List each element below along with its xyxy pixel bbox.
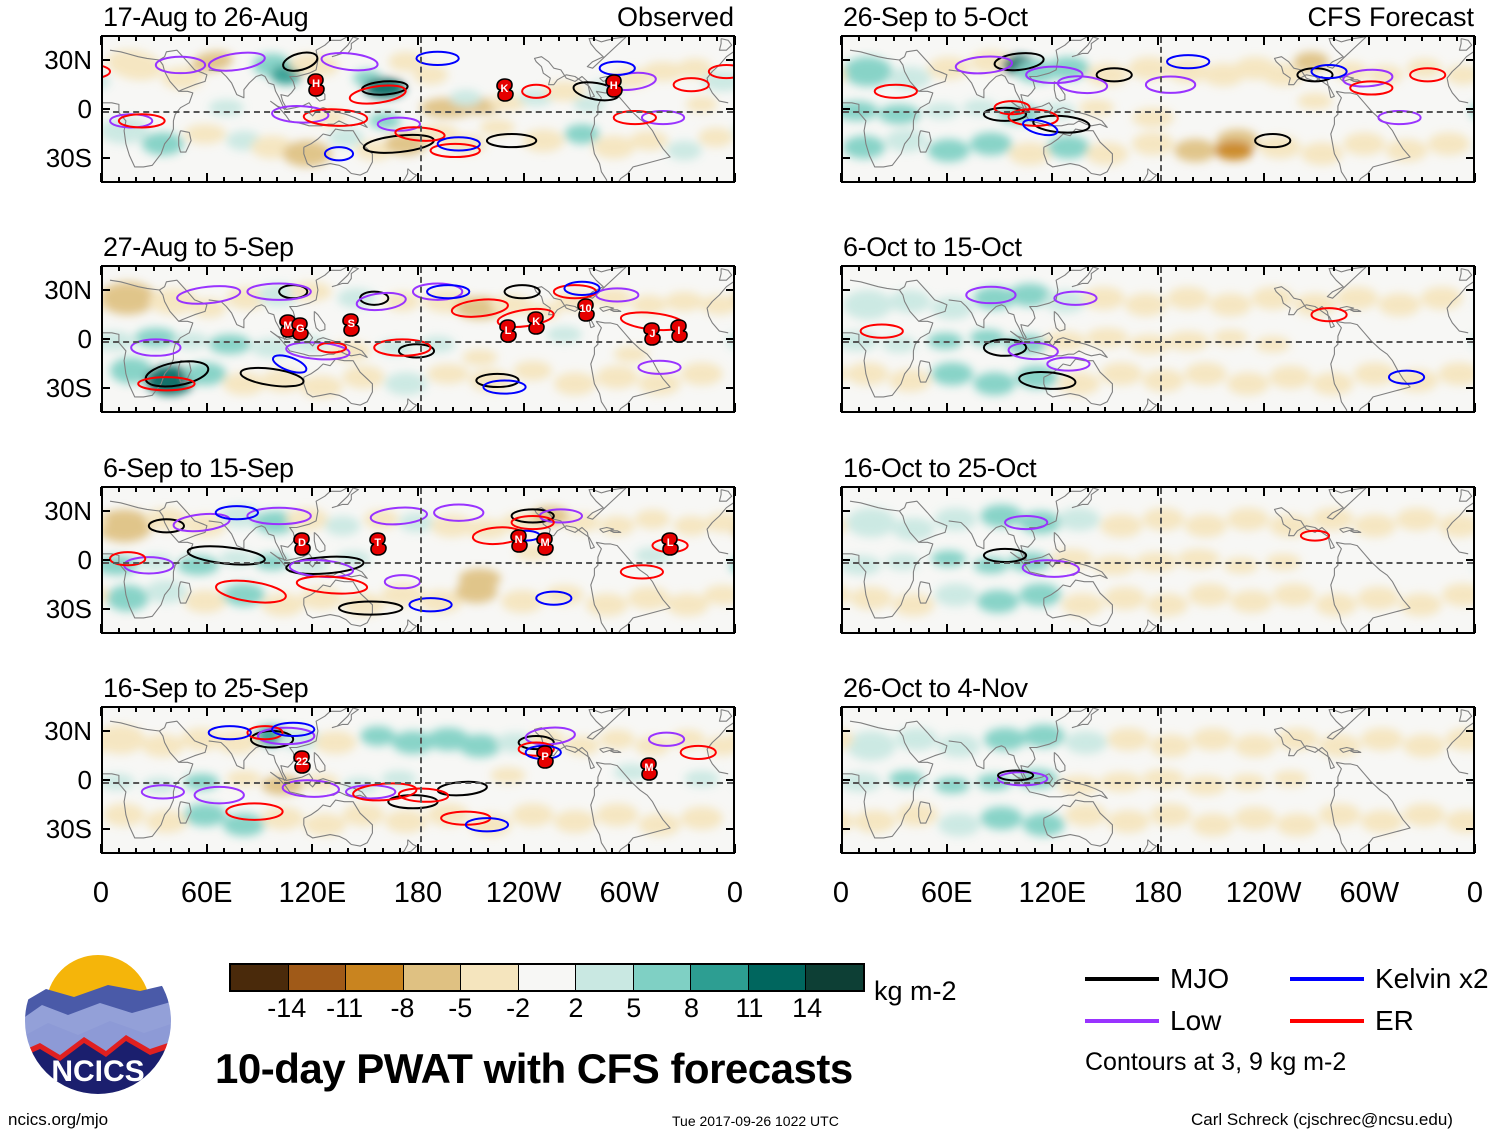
axis-tick bbox=[1157, 624, 1159, 633]
axis-tick bbox=[1351, 407, 1353, 412]
axis-tick bbox=[699, 177, 701, 182]
axis-tick bbox=[734, 266, 736, 275]
axis-tick bbox=[364, 407, 366, 412]
axis-tick bbox=[311, 624, 313, 633]
axis-tick bbox=[1333, 707, 1335, 712]
axis-tick bbox=[188, 487, 190, 492]
y-axis-tick bbox=[841, 289, 850, 291]
footer-center: Tue 2017-09-26 1022 UTC bbox=[672, 1113, 839, 1130]
y-axis-tick bbox=[726, 289, 735, 291]
panel-title: 26-Sep to 5-Oct bbox=[843, 4, 1028, 31]
axis-tick bbox=[1175, 707, 1177, 712]
axis-tick bbox=[523, 624, 525, 633]
axis-tick bbox=[1386, 36, 1388, 41]
axis-tick bbox=[1139, 266, 1141, 271]
axis-tick bbox=[505, 707, 507, 712]
axis-tick bbox=[153, 487, 155, 492]
axis-tick bbox=[611, 628, 613, 633]
storm-label: K bbox=[494, 77, 516, 103]
axis-tick bbox=[646, 266, 648, 271]
axis-tick bbox=[1263, 844, 1265, 853]
axis-tick bbox=[118, 266, 120, 271]
axis-tick bbox=[664, 487, 666, 492]
axis-tick bbox=[1386, 628, 1388, 633]
axis-tick bbox=[470, 707, 472, 712]
axis-tick bbox=[206, 173, 208, 182]
equator-line bbox=[103, 562, 733, 564]
axis-tick bbox=[1016, 407, 1018, 412]
axis-tick bbox=[1439, 487, 1441, 492]
dateline bbox=[420, 37, 422, 181]
axis-tick bbox=[716, 266, 718, 271]
storm-marker: N bbox=[508, 528, 530, 554]
axis-tick bbox=[435, 407, 437, 412]
equator-line bbox=[103, 111, 733, 113]
axis-tick bbox=[1316, 848, 1318, 853]
axis-tick bbox=[1087, 177, 1089, 182]
axis-tick bbox=[963, 177, 965, 182]
axis-tick bbox=[1316, 36, 1318, 41]
y-axis-tick bbox=[1466, 608, 1475, 610]
axis-tick bbox=[241, 848, 243, 853]
axis-tick bbox=[910, 177, 912, 182]
axis-tick bbox=[1316, 487, 1318, 492]
axis-tick bbox=[170, 407, 172, 412]
axis-tick bbox=[628, 173, 630, 182]
axis-tick bbox=[1104, 266, 1106, 271]
axis-tick bbox=[1316, 707, 1318, 712]
axis-tick bbox=[893, 848, 895, 853]
axis-tick bbox=[135, 36, 137, 41]
footer-left[interactable]: ncics.org/mjo bbox=[8, 1111, 108, 1128]
axis-tick bbox=[153, 848, 155, 853]
axis-tick bbox=[1456, 177, 1458, 182]
axis-tick bbox=[1263, 624, 1265, 633]
axis-tick bbox=[875, 707, 877, 712]
axis-tick bbox=[364, 487, 366, 492]
axis-tick bbox=[487, 707, 489, 712]
axis-tick bbox=[259, 177, 261, 182]
axis-tick bbox=[206, 624, 208, 633]
axis-tick bbox=[1175, 848, 1177, 853]
equator-line bbox=[843, 562, 1473, 564]
axis-tick bbox=[487, 628, 489, 633]
axis-tick bbox=[135, 848, 137, 853]
axis-tick bbox=[540, 36, 542, 41]
axis-tick bbox=[1087, 36, 1089, 41]
axis-tick bbox=[259, 628, 261, 633]
axis-tick bbox=[893, 266, 895, 271]
equator-line bbox=[843, 341, 1473, 343]
colorbar-tick: 5 bbox=[626, 995, 641, 1022]
axis-tick bbox=[1227, 407, 1229, 412]
map-panel-cfs-1 bbox=[841, 35, 1475, 183]
axis-tick bbox=[1122, 177, 1124, 182]
axis-tick bbox=[382, 177, 384, 182]
axis-tick bbox=[452, 628, 454, 633]
storm-marker: H bbox=[603, 73, 625, 99]
axis-tick bbox=[206, 36, 208, 45]
axis-tick bbox=[294, 628, 296, 633]
axis-tick bbox=[1368, 624, 1370, 633]
colorbar-unit-label: kg m-2 bbox=[874, 978, 957, 1005]
axis-tick bbox=[1404, 407, 1406, 412]
axis-tick bbox=[1139, 707, 1141, 712]
axis-tick bbox=[1333, 487, 1335, 492]
axis-tick bbox=[435, 487, 437, 492]
legend-line-swatch bbox=[1290, 1019, 1364, 1023]
axis-tick bbox=[417, 624, 419, 633]
axis-tick bbox=[118, 628, 120, 633]
axis-tick bbox=[223, 177, 225, 182]
axis-tick bbox=[646, 628, 648, 633]
axis-tick bbox=[259, 36, 261, 41]
axis-tick bbox=[1368, 707, 1370, 716]
axis-tick bbox=[699, 848, 701, 853]
axis-tick bbox=[1034, 407, 1036, 412]
axis-tick bbox=[1280, 848, 1282, 853]
panel-title: 6-Oct to 15-Oct bbox=[843, 234, 1022, 261]
axis-tick bbox=[628, 624, 630, 633]
y-axis-tick bbox=[101, 59, 110, 61]
axis-tick bbox=[1227, 707, 1229, 712]
axis-tick bbox=[1474, 266, 1476, 275]
y-axis-tick bbox=[841, 157, 850, 159]
axis-tick bbox=[311, 403, 313, 412]
axis-tick bbox=[734, 844, 736, 853]
axis-tick bbox=[188, 707, 190, 712]
storm-label: 10 bbox=[575, 297, 597, 323]
axis-tick bbox=[593, 36, 595, 41]
storm-marker: J bbox=[641, 321, 663, 347]
axis-tick bbox=[435, 36, 437, 41]
axis-tick bbox=[1280, 177, 1282, 182]
axis-tick bbox=[699, 707, 701, 712]
colorbar-segment bbox=[404, 965, 462, 990]
axis-tick bbox=[981, 707, 983, 712]
axis-tick bbox=[1210, 707, 1212, 712]
axis-tick bbox=[1157, 487, 1159, 496]
axis-tick bbox=[329, 628, 331, 633]
axis-tick bbox=[628, 844, 630, 853]
axis-tick bbox=[576, 848, 578, 853]
axis-tick bbox=[100, 36, 102, 45]
axis-tick bbox=[1069, 177, 1071, 182]
axis-tick bbox=[1227, 177, 1229, 182]
axis-tick bbox=[188, 36, 190, 41]
colorbar-segment bbox=[289, 965, 347, 990]
axis-tick bbox=[540, 407, 542, 412]
axis-tick bbox=[1175, 177, 1177, 182]
axis-tick bbox=[576, 487, 578, 492]
axis-tick bbox=[1263, 36, 1265, 45]
axis-tick bbox=[1139, 177, 1141, 182]
axis-tick bbox=[1421, 177, 1423, 182]
colorbar bbox=[229, 963, 865, 992]
axis-tick bbox=[470, 36, 472, 41]
equator-line bbox=[843, 111, 1473, 113]
legend-label: Low bbox=[1170, 1007, 1221, 1035]
storm-label: L bbox=[659, 531, 681, 557]
axis-tick bbox=[1122, 36, 1124, 41]
storm-label: M bbox=[534, 531, 556, 557]
axis-tick bbox=[664, 36, 666, 41]
axis-tick bbox=[382, 407, 384, 412]
storm-marker: L bbox=[659, 531, 681, 557]
axis-tick bbox=[716, 848, 718, 853]
axis-tick bbox=[135, 487, 137, 492]
y-axis-tick bbox=[841, 730, 850, 732]
axis-tick bbox=[593, 848, 595, 853]
axis-tick bbox=[734, 624, 736, 633]
axis-tick bbox=[540, 266, 542, 271]
axis-tick bbox=[1333, 848, 1335, 853]
footer-right: Carl Schreck (cjschrec@ncsu.edu) bbox=[1191, 1111, 1453, 1128]
axis-tick bbox=[417, 707, 419, 716]
axis-tick bbox=[505, 628, 507, 633]
axis-tick bbox=[505, 177, 507, 182]
axis-tick bbox=[399, 628, 401, 633]
axis-tick bbox=[999, 177, 1001, 182]
axis-tick bbox=[1386, 707, 1388, 712]
axis-tick bbox=[276, 266, 278, 271]
axis-tick bbox=[946, 173, 948, 182]
x-axis-label: 0 bbox=[685, 879, 785, 908]
y-axis-tick bbox=[841, 108, 850, 110]
axis-tick bbox=[1439, 266, 1441, 271]
y-axis-label: 30N bbox=[0, 47, 92, 73]
axis-tick bbox=[347, 487, 349, 492]
axis-tick bbox=[681, 848, 683, 853]
axis-tick bbox=[100, 403, 102, 412]
axis-tick bbox=[364, 707, 366, 712]
axis-tick bbox=[417, 844, 419, 853]
y-axis-tick bbox=[101, 779, 110, 781]
axis-tick bbox=[1421, 487, 1423, 492]
axis-tick bbox=[1210, 487, 1212, 492]
axis-tick bbox=[928, 707, 930, 712]
axis-tick bbox=[170, 266, 172, 271]
axis-tick bbox=[699, 628, 701, 633]
axis-tick bbox=[1421, 407, 1423, 412]
axis-tick bbox=[1069, 36, 1071, 41]
axis-tick bbox=[364, 628, 366, 633]
map-panel-obs-4: 22PM bbox=[101, 706, 735, 854]
axis-tick bbox=[259, 407, 261, 412]
axis-tick bbox=[593, 628, 595, 633]
axis-tick bbox=[259, 707, 261, 712]
equator-line bbox=[103, 782, 733, 784]
axis-tick bbox=[1245, 848, 1247, 853]
axis-tick bbox=[1122, 487, 1124, 492]
axis-tick bbox=[294, 407, 296, 412]
axis-tick bbox=[311, 173, 313, 182]
axis-tick bbox=[875, 36, 877, 41]
axis-tick bbox=[840, 403, 842, 412]
panel-corner-label: Observed bbox=[617, 4, 734, 31]
axis-tick bbox=[558, 266, 560, 271]
axis-tick bbox=[664, 707, 666, 712]
axis-tick bbox=[664, 407, 666, 412]
axis-tick bbox=[858, 848, 860, 853]
axis-tick bbox=[487, 177, 489, 182]
axis-tick bbox=[681, 628, 683, 633]
axis-tick bbox=[1333, 266, 1335, 271]
axis-tick bbox=[576, 266, 578, 271]
y-axis-label: 30S bbox=[0, 596, 92, 622]
axis-tick bbox=[1157, 707, 1159, 716]
dateline bbox=[1160, 488, 1162, 632]
equator-line bbox=[103, 341, 733, 343]
axis-tick bbox=[558, 707, 560, 712]
axis-tick bbox=[452, 407, 454, 412]
storm-label: S bbox=[340, 312, 362, 338]
axis-tick bbox=[734, 36, 736, 45]
axis-tick bbox=[1245, 177, 1247, 182]
axis-tick bbox=[716, 36, 718, 41]
y-axis-label: 30N bbox=[0, 498, 92, 524]
storm-label: H bbox=[305, 72, 327, 98]
storm-marker: M bbox=[638, 756, 660, 782]
y-axis-tick bbox=[726, 730, 735, 732]
axis-tick bbox=[1439, 628, 1441, 633]
y-axis-tick bbox=[841, 559, 850, 561]
axis-tick bbox=[893, 628, 895, 633]
axis-tick bbox=[1227, 487, 1229, 492]
axis-tick bbox=[910, 36, 912, 41]
axis-tick bbox=[1051, 403, 1053, 412]
axis-tick bbox=[1456, 266, 1458, 271]
axis-tick bbox=[364, 177, 366, 182]
axis-tick bbox=[946, 707, 948, 716]
axis-tick bbox=[1280, 628, 1282, 633]
axis-tick bbox=[628, 36, 630, 45]
storm-label: J bbox=[641, 321, 663, 347]
axis-tick bbox=[523, 403, 525, 412]
axis-tick bbox=[1034, 177, 1036, 182]
axis-tick bbox=[1069, 848, 1071, 853]
axis-tick bbox=[382, 848, 384, 853]
storm-marker: D bbox=[291, 531, 313, 557]
y-axis-tick bbox=[101, 510, 110, 512]
axis-tick bbox=[840, 844, 842, 853]
axis-tick bbox=[1051, 266, 1053, 275]
storm-marker: M bbox=[534, 531, 556, 557]
axis-tick bbox=[593, 177, 595, 182]
axis-tick bbox=[118, 177, 120, 182]
axis-tick bbox=[1069, 487, 1071, 492]
y-axis-tick bbox=[726, 108, 735, 110]
axis-tick bbox=[1051, 624, 1053, 633]
axis-tick bbox=[259, 848, 261, 853]
axis-tick bbox=[276, 628, 278, 633]
axis-tick bbox=[699, 36, 701, 41]
axis-tick bbox=[487, 848, 489, 853]
axis-tick bbox=[153, 628, 155, 633]
axis-tick bbox=[417, 36, 419, 45]
axis-tick bbox=[1280, 707, 1282, 712]
axis-tick bbox=[100, 487, 102, 496]
axis-tick bbox=[1210, 628, 1212, 633]
y-axis-tick bbox=[841, 510, 850, 512]
axis-tick bbox=[540, 177, 542, 182]
axis-tick bbox=[1087, 487, 1089, 492]
axis-tick bbox=[523, 266, 525, 275]
storm-marker: K bbox=[525, 310, 547, 336]
axis-tick bbox=[858, 177, 860, 182]
axis-tick bbox=[540, 848, 542, 853]
y-axis-tick bbox=[841, 338, 850, 340]
axis-tick bbox=[1298, 407, 1300, 412]
axis-tick bbox=[928, 848, 930, 853]
axis-tick bbox=[858, 407, 860, 412]
axis-tick bbox=[223, 407, 225, 412]
axis-tick bbox=[294, 487, 296, 492]
axis-tick bbox=[1034, 36, 1036, 41]
axis-tick bbox=[734, 173, 736, 182]
axis-tick bbox=[523, 844, 525, 853]
axis-tick bbox=[611, 848, 613, 853]
axis-tick bbox=[276, 177, 278, 182]
axis-tick bbox=[135, 628, 137, 633]
axis-tick bbox=[417, 173, 419, 182]
axis-tick bbox=[1298, 848, 1300, 853]
y-axis-tick bbox=[1466, 559, 1475, 561]
axis-tick bbox=[329, 848, 331, 853]
axis-tick bbox=[470, 848, 472, 853]
axis-tick bbox=[241, 707, 243, 712]
axis-tick bbox=[593, 707, 595, 712]
axis-tick bbox=[1069, 707, 1071, 712]
y-axis-tick bbox=[726, 608, 735, 610]
axis-tick bbox=[1368, 173, 1370, 182]
axis-tick bbox=[100, 707, 102, 716]
axis-tick bbox=[1122, 707, 1124, 712]
axis-tick bbox=[347, 266, 349, 271]
legend-label: ER bbox=[1375, 1007, 1414, 1035]
axis-tick bbox=[1298, 36, 1300, 41]
legend-line-swatch bbox=[1085, 977, 1159, 981]
storm-label: I bbox=[668, 318, 690, 344]
legend-line-swatch bbox=[1085, 1019, 1159, 1023]
axis-tick bbox=[470, 628, 472, 633]
axis-tick bbox=[1404, 628, 1406, 633]
axis-tick bbox=[1298, 707, 1300, 712]
axis-tick bbox=[1016, 177, 1018, 182]
axis-tick bbox=[1227, 36, 1229, 41]
axis-tick bbox=[540, 628, 542, 633]
y-axis-label: 30S bbox=[0, 145, 92, 171]
axis-tick bbox=[558, 628, 560, 633]
axis-tick bbox=[593, 266, 595, 271]
axis-tick bbox=[734, 487, 736, 496]
axis-tick bbox=[664, 848, 666, 853]
axis-tick bbox=[347, 36, 349, 41]
axis-tick bbox=[153, 36, 155, 41]
axis-tick bbox=[382, 36, 384, 41]
axis-tick bbox=[470, 177, 472, 182]
axis-tick bbox=[311, 707, 313, 716]
axis-tick bbox=[170, 487, 172, 492]
axis-tick bbox=[399, 266, 401, 271]
page-title: 10-day PWAT with CFS forecasts bbox=[215, 1048, 853, 1090]
axis-tick bbox=[875, 628, 877, 633]
axis-tick bbox=[963, 848, 965, 853]
storm-label: M bbox=[638, 756, 660, 782]
axis-tick bbox=[910, 628, 912, 633]
axis-tick bbox=[1087, 707, 1089, 712]
axis-tick bbox=[1456, 36, 1458, 41]
